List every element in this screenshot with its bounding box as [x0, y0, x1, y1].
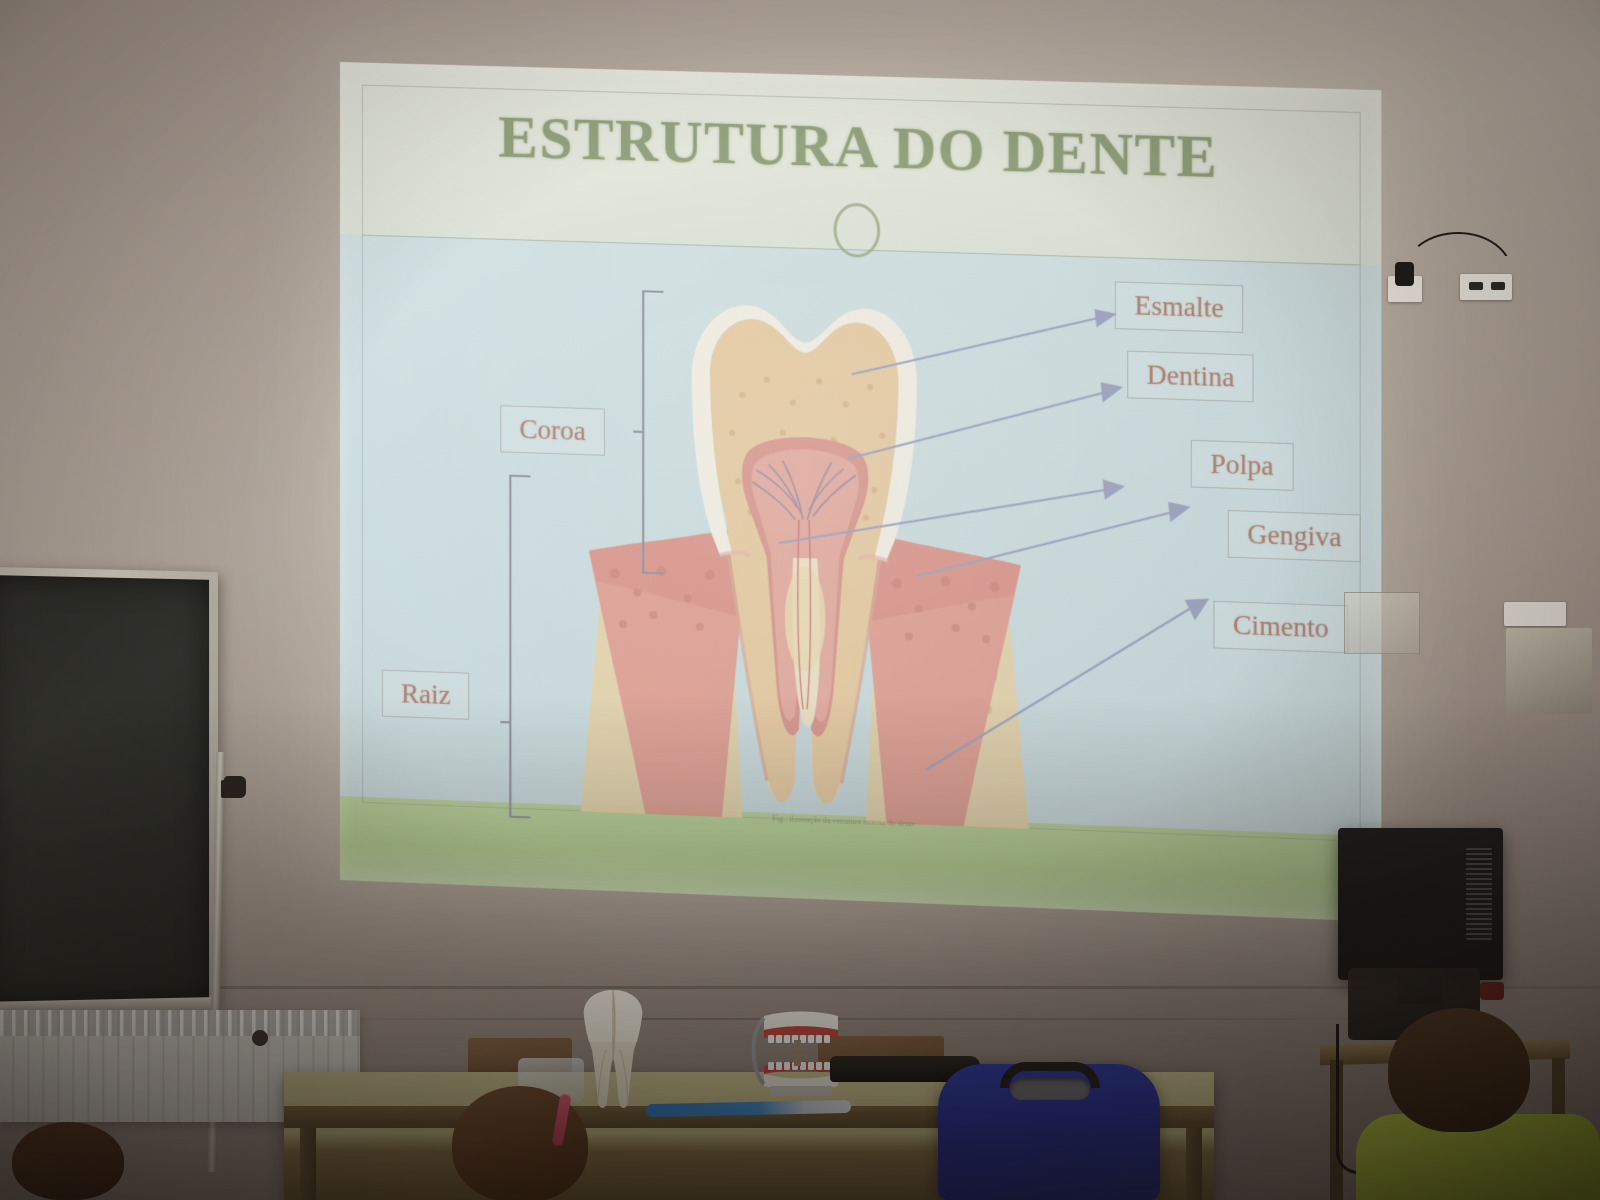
blackboard-surface — [0, 575, 209, 1003]
label-dentina[interactable]: Dentina — [1127, 351, 1254, 403]
radiator-valve-icon — [252, 1030, 268, 1046]
wall-access-panel — [1344, 592, 1420, 654]
slide-canvas: ESTRUTURA DO DENTE — [340, 62, 1381, 922]
label-raiz[interactable]: Raiz — [382, 670, 470, 720]
blackboard — [0, 567, 218, 1018]
label-polpa[interactable]: Polpa — [1191, 440, 1293, 491]
giant-tooth-model — [572, 988, 654, 1112]
wall-outlet-plate — [1504, 602, 1566, 626]
chair-handle-slot — [1010, 1078, 1090, 1100]
desk-leg-right — [1186, 1128, 1202, 1200]
circle-ornament-icon — [833, 202, 880, 258]
classroom-scene: ESTRUTURA DO DENTE — [0, 0, 1600, 1200]
monitor-vent — [1466, 848, 1492, 940]
blackboard-knob — [224, 776, 246, 798]
label-cimento[interactable]: Cimento — [1213, 601, 1348, 654]
tooth-diagram — [540, 248, 1067, 830]
wall-mounted-box — [1506, 628, 1592, 714]
student-head-left — [12, 1122, 124, 1200]
red-indicator — [1480, 982, 1504, 1000]
projected-slide: ESTRUTURA DO DENTE — [340, 62, 1381, 922]
outlet-hole-right — [1491, 282, 1505, 290]
label-gengiva[interactable]: Gengiva — [1228, 510, 1361, 562]
tooth-cross-section-svg — [540, 248, 1067, 830]
blackboard-frame — [0, 567, 218, 1018]
label-coroa[interactable]: Coroa — [500, 405, 605, 456]
outlet-hole-left — [1469, 282, 1483, 290]
dental-jaw-model — [742, 1010, 844, 1102]
label-esmalte[interactable]: Esmalte — [1115, 281, 1243, 333]
student-head-right — [1388, 1008, 1530, 1132]
radiator-top-grille — [0, 1010, 360, 1036]
wall-seam-lower — [300, 1018, 1420, 1020]
desk-leg-left — [300, 1128, 316, 1200]
